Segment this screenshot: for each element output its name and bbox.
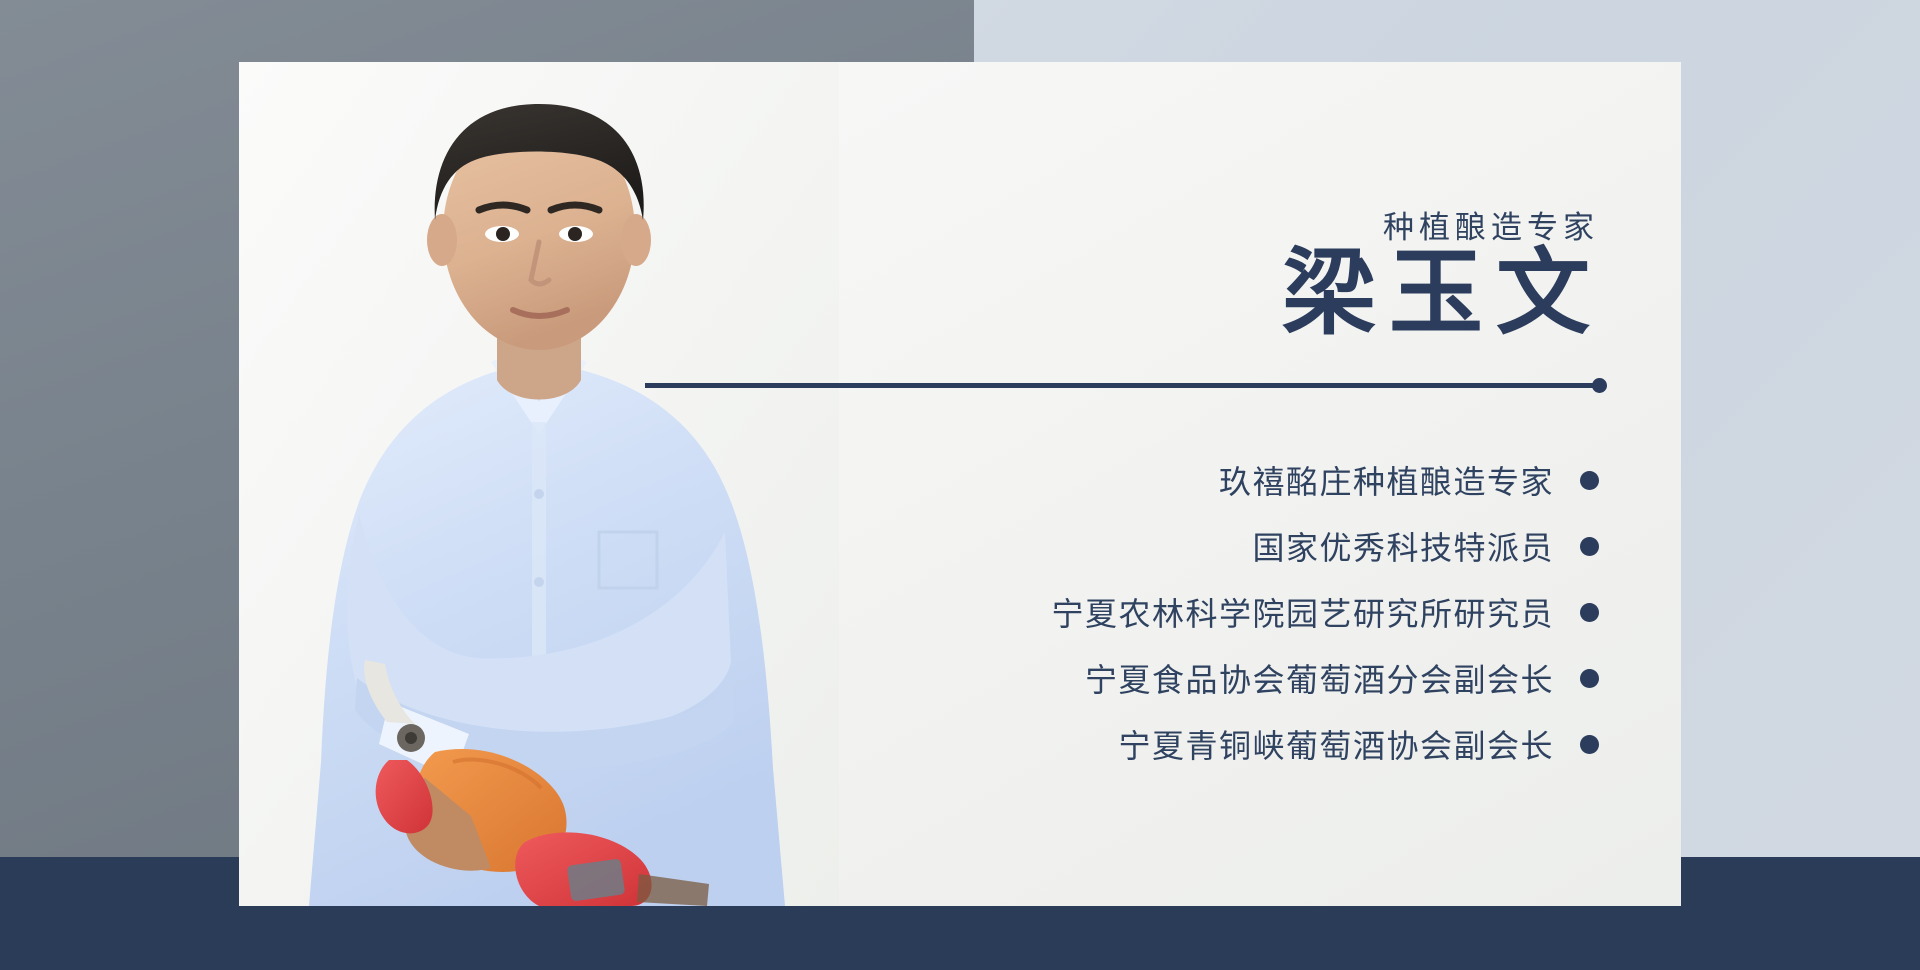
bullet-dot-icon xyxy=(1580,471,1599,490)
credential-item: 玖禧酩庄种植酿造专家 xyxy=(1051,447,1599,513)
bullet-dot-icon xyxy=(1580,735,1599,754)
credential-item: 宁夏食品协会葡萄酒分会副会长 xyxy=(1051,645,1599,711)
credential-text: 宁夏青铜峡葡萄酒协会副会长 xyxy=(1118,721,1554,767)
profile-card: 种植酿造专家 梁玉文 玖禧酩庄种植酿造专家 国家优秀科技特派员 宁夏农林科学院园… xyxy=(239,62,1681,906)
credential-item: 宁夏农林科学院园艺研究所研究员 xyxy=(1051,579,1599,645)
profile-banner: 种植酿造专家 梁玉文 玖禧酩庄种植酿造专家 国家优秀科技特派员 宁夏农林科学院园… xyxy=(0,0,1920,970)
person-name: 梁玉文 xyxy=(1282,245,1603,345)
credential-item: 国家优秀科技特派员 xyxy=(1051,513,1599,579)
profile-text-column: 种植酿造专家 梁玉文 玖禧酩庄种植酿造专家 国家优秀科技特派员 宁夏农林科学院园… xyxy=(699,62,1599,906)
credentials-list: 玖禧酩庄种植酿造专家 国家优秀科技特派员 宁夏农林科学院园艺研究所研究员 宁夏食… xyxy=(1051,447,1599,777)
credential-item: 宁夏青铜峡葡萄酒协会副会长 xyxy=(1051,711,1599,777)
bullet-dot-icon xyxy=(1580,603,1599,622)
credential-text: 国家优秀科技特派员 xyxy=(1252,523,1554,569)
credential-text: 宁夏农林科学院园艺研究所研究员 xyxy=(1051,589,1554,635)
credential-text: 宁夏食品协会葡萄酒分会副会长 xyxy=(1085,655,1554,701)
credential-text: 玖禧酩庄种植酿造专家 xyxy=(1219,457,1554,503)
divider-end-dot-icon xyxy=(1592,378,1607,393)
role-label: 种植酿造专家 xyxy=(1383,202,1599,247)
bullet-dot-icon xyxy=(1580,537,1599,556)
divider-line xyxy=(645,383,1598,388)
bullet-dot-icon xyxy=(1580,669,1599,688)
